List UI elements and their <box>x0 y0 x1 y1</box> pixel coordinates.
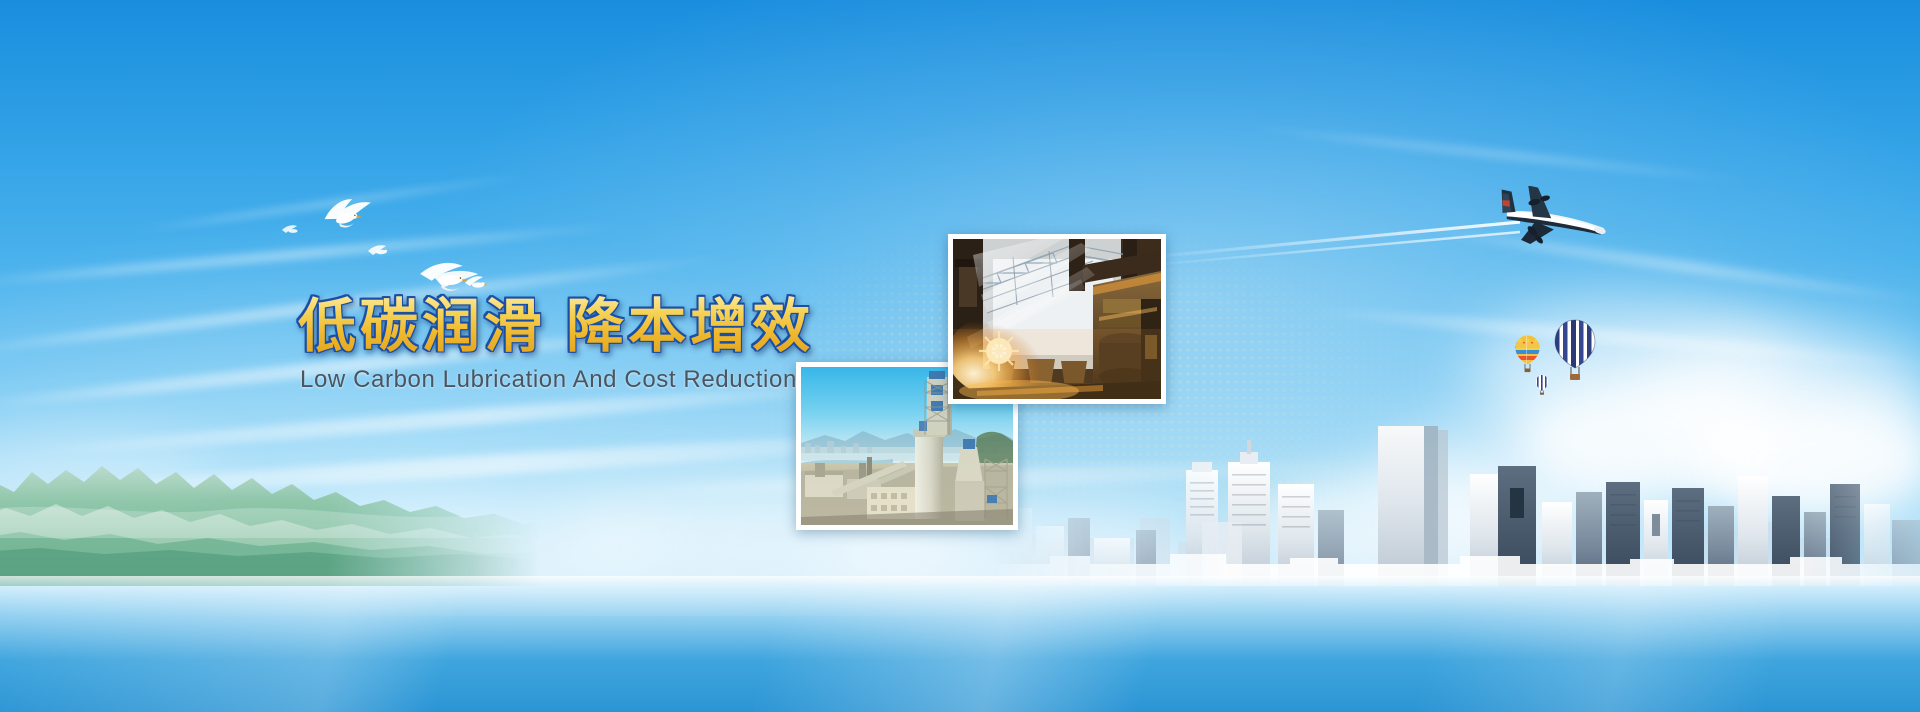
steel-mill-image <box>953 239 1161 399</box>
page-subtitle: Low Carbon Lubrication And Cost Reductio… <box>300 366 797 394</box>
steel-mill-photo[interactable] <box>948 234 1166 404</box>
water-sheen <box>0 576 1920 712</box>
hero-banner: 低碳润滑 降本增效 Low Carbon Lubrication And Cos… <box>0 0 1920 712</box>
dove-icon <box>316 190 378 236</box>
airplane-icon <box>1492 186 1608 258</box>
dove-icon <box>280 222 302 238</box>
contrail <box>1140 218 1520 270</box>
dove-icon <box>366 242 392 260</box>
dove-icon <box>462 272 492 294</box>
page-title: 低碳润滑 降本增效 <box>298 295 814 359</box>
hot-air-balloon-large <box>1552 318 1598 384</box>
hot-air-balloon-small <box>1514 334 1541 374</box>
hot-air-balloon-tiny <box>1535 374 1549 396</box>
